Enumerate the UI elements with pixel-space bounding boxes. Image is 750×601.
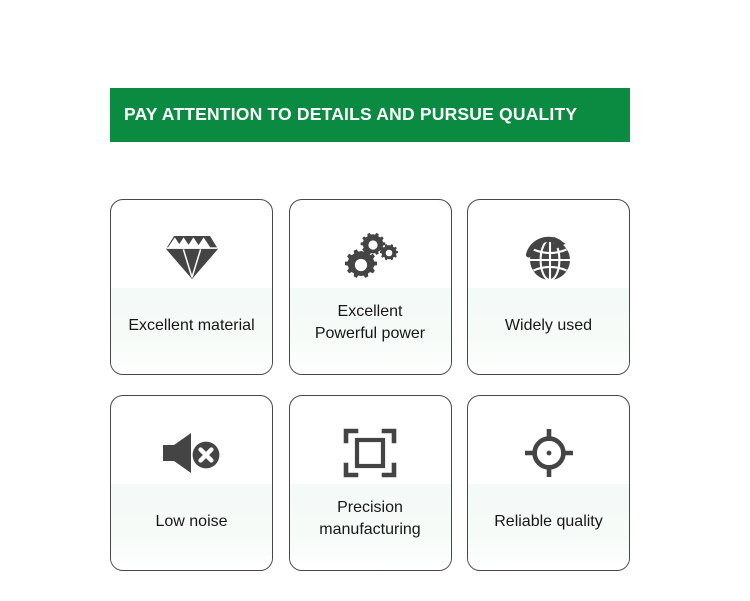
speaker-mute-icon: [161, 422, 223, 484]
banner-title: PAY ATTENTION TO DETAILS AND PURSUE QUAL…: [124, 106, 577, 124]
crosshair-target-icon: [523, 422, 575, 484]
feature-card-label: Low noise: [147, 484, 235, 570]
feature-card-label: Reliable quality: [486, 484, 611, 570]
feature-card-grid: Excellent material: [110, 199, 630, 574]
feature-card-powerful-power[interactable]: Excellent Powerful power: [289, 199, 452, 375]
diamond-icon: [164, 226, 220, 288]
feature-card-excellent-material[interactable]: Excellent material: [110, 199, 273, 375]
feature-card-label: Excellent Powerful power: [307, 288, 433, 374]
feature-card-low-noise[interactable]: Low noise: [110, 395, 273, 571]
feature-card-widely-used[interactable]: Widely used: [467, 199, 630, 375]
feature-card-precision-manufacturing[interactable]: Precision manufacturing: [289, 395, 452, 571]
focus-frame-icon: [343, 422, 397, 484]
section-banner: PAY ATTENTION TO DETAILS AND PURSUE QUAL…: [110, 88, 630, 142]
feature-card-label: Precision manufacturing: [311, 484, 428, 570]
globe-refresh-icon: [520, 226, 578, 288]
feature-card-label: Widely used: [497, 288, 600, 374]
feature-card-label: Excellent material: [120, 288, 262, 374]
feature-card-reliable-quality[interactable]: Reliable quality: [467, 395, 630, 571]
gears-icon: [339, 226, 401, 288]
feature-highlights-page: PAY ATTENTION TO DETAILS AND PURSUE QUAL…: [0, 0, 750, 601]
